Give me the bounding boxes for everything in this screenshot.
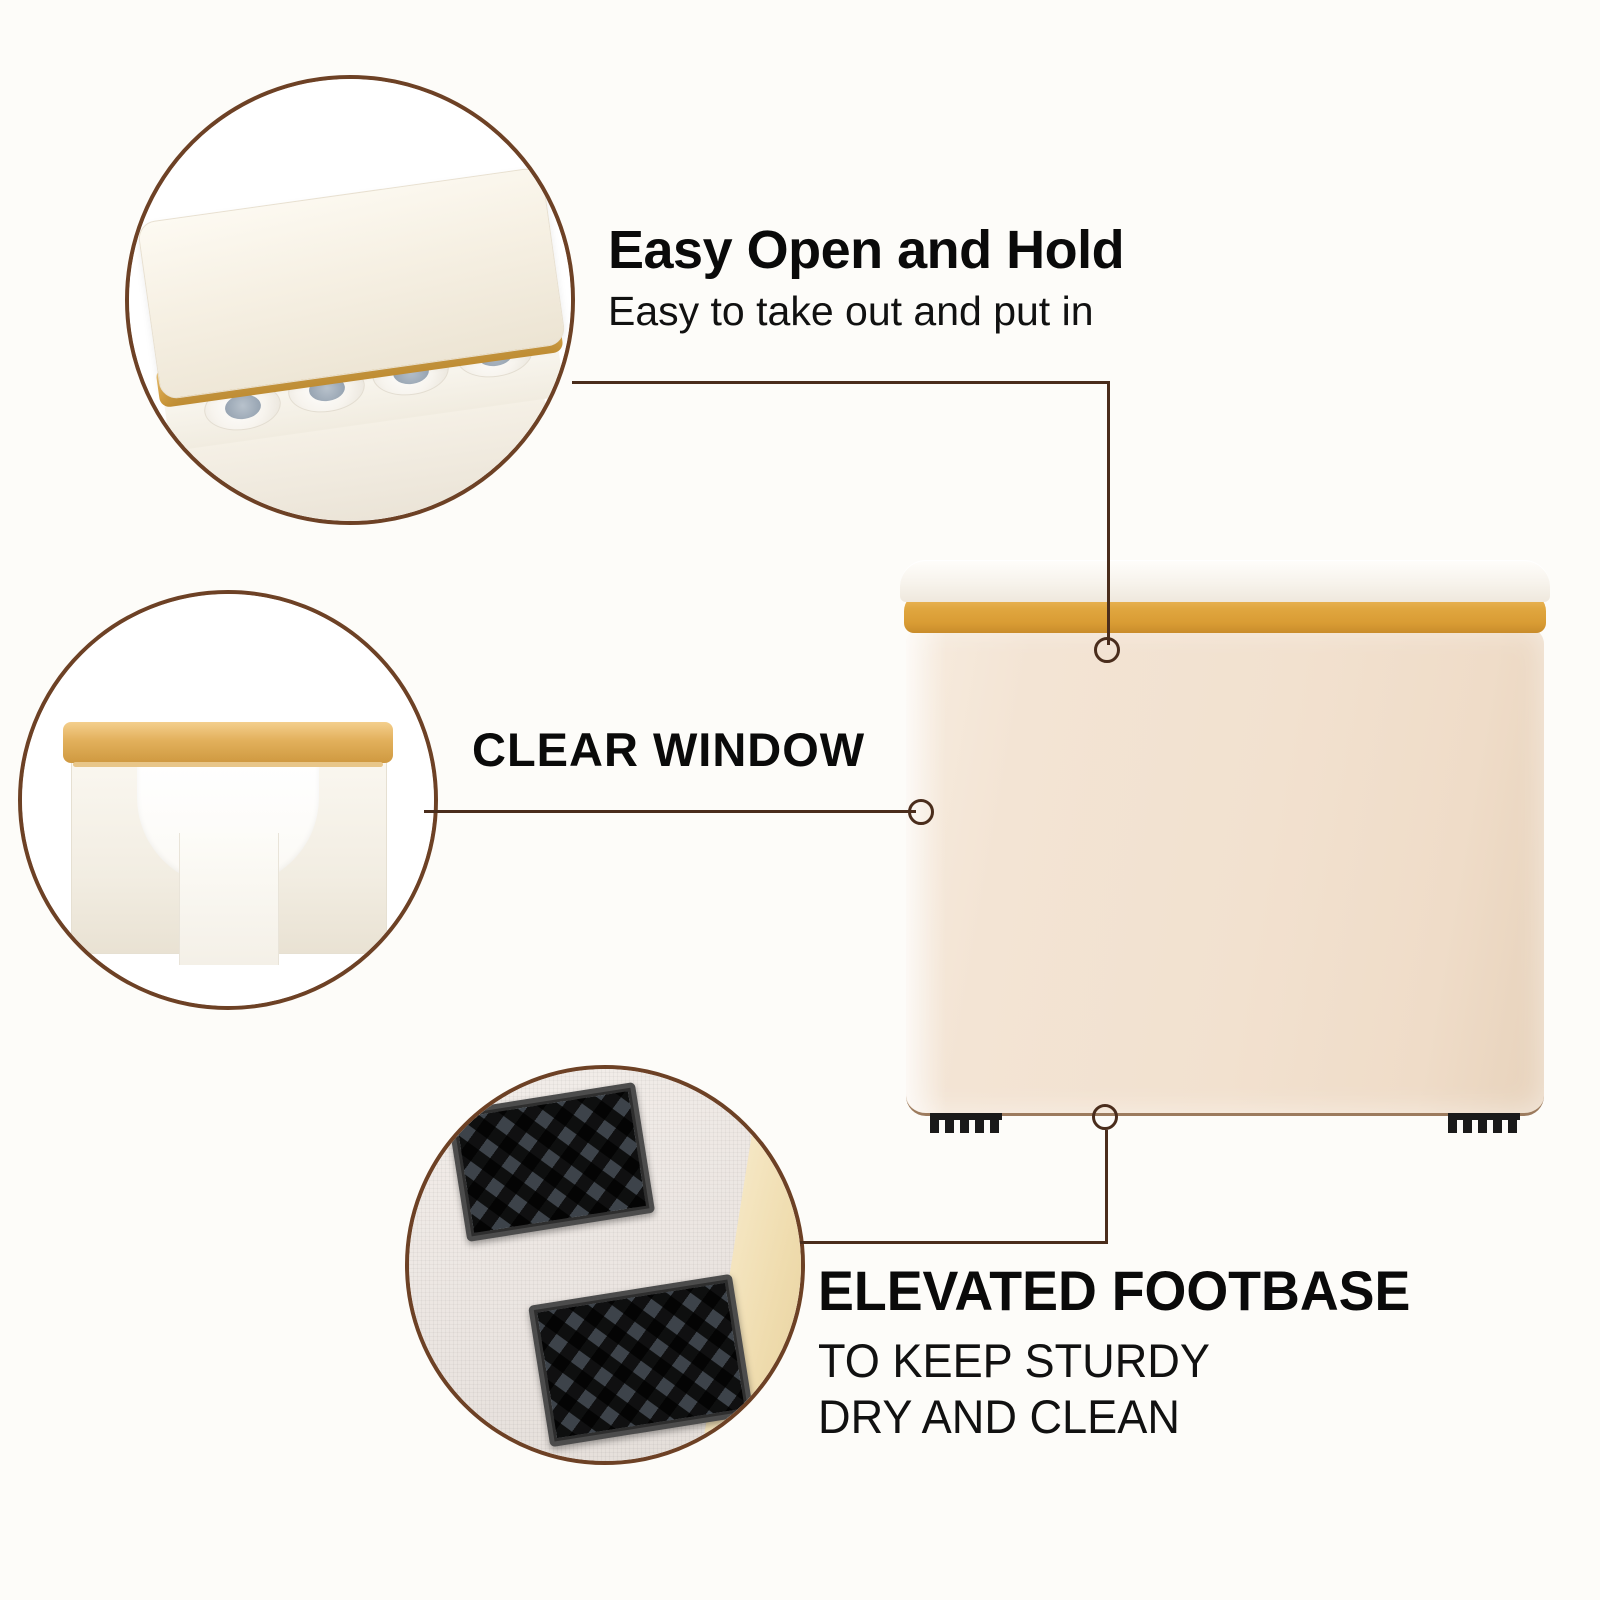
lid-top [900, 560, 1550, 602]
callout-text-footbase: ELEVATED FOOTBASE TO KEEP STURDY DRY AND… [818, 1262, 1435, 1444]
clear-window-detail [22, 594, 434, 1006]
product-storage-bin [900, 560, 1550, 1115]
footbase-detail [409, 1069, 801, 1461]
footbase-marker [1092, 1104, 1118, 1130]
infographic-canvas: Easy Open and Hold Easy to take out and … [0, 0, 1600, 1600]
callout-circle-easy-open [125, 75, 575, 525]
leader-line-footbase-vertical [1105, 1130, 1108, 1244]
callout-text-clear-window: CLEAR WINDOW [472, 725, 865, 774]
leader-line-clear-window [424, 810, 916, 813]
wood-lid [63, 722, 393, 763]
bin-foot-right [1448, 1113, 1520, 1133]
leader-line-footbase-horizontal [800, 1241, 1108, 1244]
callout-circle-clear-window [18, 590, 438, 1010]
footbase-subtitle-line1: TO KEEP STURDY [818, 1335, 1410, 1388]
lid-open-detail [129, 79, 571, 521]
window-marker [908, 799, 934, 825]
leader-line-easy-open-horizontal [572, 381, 1110, 384]
easy-open-title: Easy Open and Hold [608, 222, 1124, 279]
leader-line-easy-open-vertical [1107, 381, 1110, 645]
easy-open-subtitle: Easy to take out and put in [608, 289, 1124, 335]
clear-window-title: CLEAR WINDOW [472, 725, 865, 774]
callout-circle-footbase [405, 1065, 805, 1465]
callout-text-easy-open: Easy Open and Hold Easy to take out and … [608, 222, 1124, 335]
lid-marker [1094, 637, 1120, 663]
bin-foot-left [930, 1113, 1002, 1133]
window-center-strip [179, 833, 280, 965]
footbase-subtitle-line2: DRY AND CLEAN [818, 1391, 1410, 1444]
bin-body [906, 628, 1544, 1116]
footbase-title: ELEVATED FOOTBASE [818, 1262, 1410, 1321]
